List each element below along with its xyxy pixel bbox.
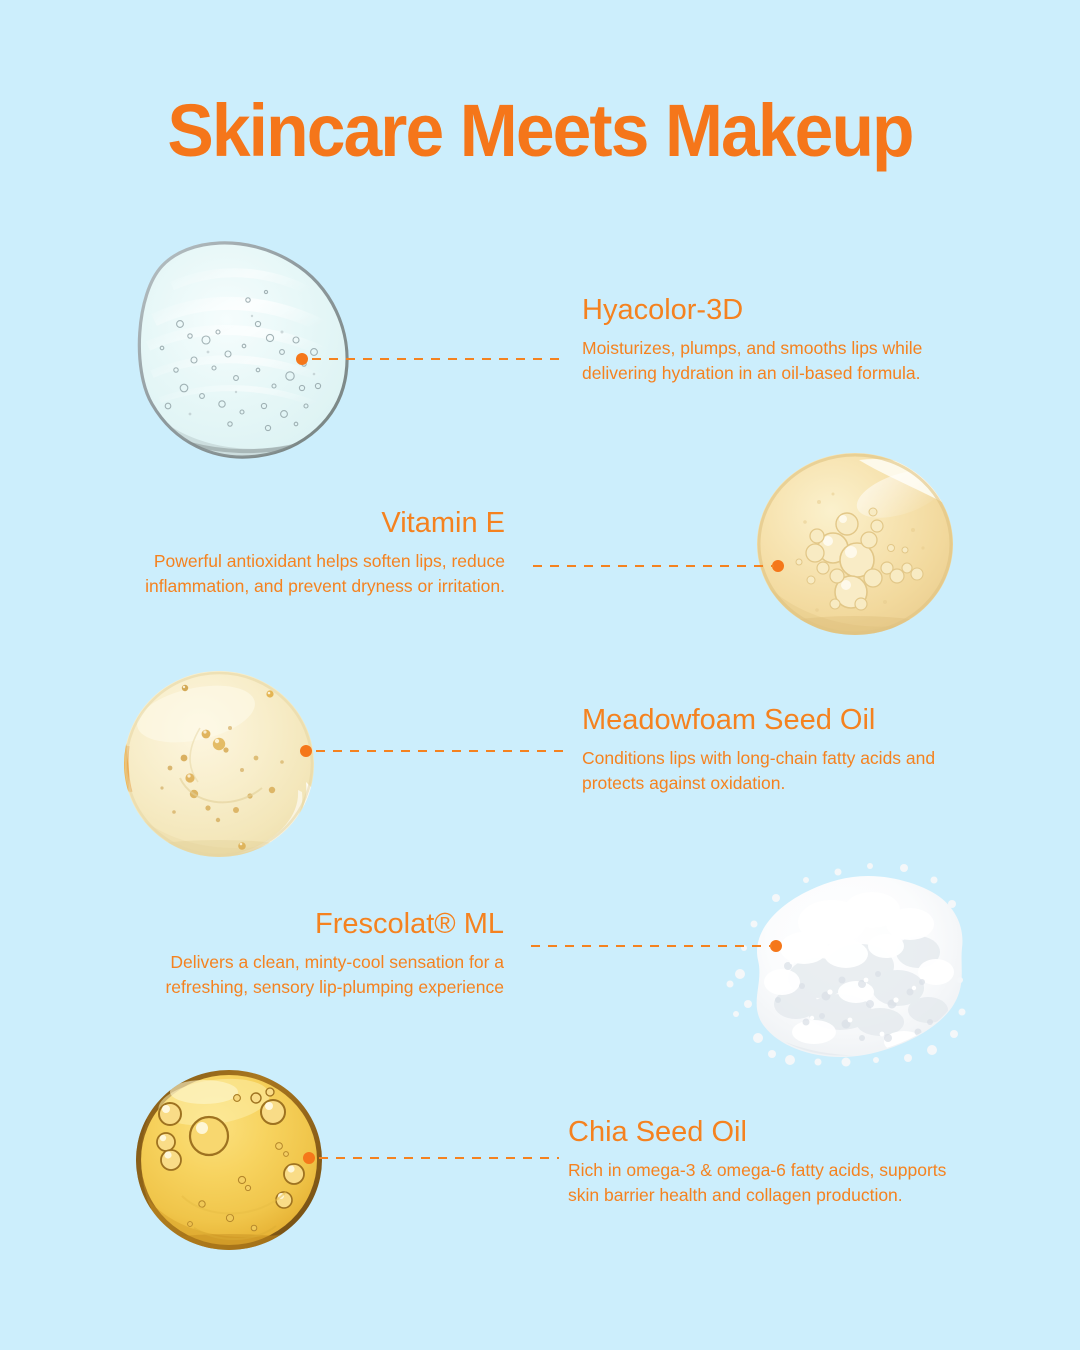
connector-line-vitamin-e — [533, 565, 774, 567]
ingredient-block-vitamin-e: Vitamin E Powerful antioxidant helps sof… — [130, 506, 505, 599]
ingredient-description: Delivers a clean, minty-cool sensation f… — [108, 950, 504, 1000]
ingredient-description: Moisturizes, plumps, and smooths lips wh… — [582, 336, 982, 386]
ingredient-description: Rich in omega-3 & omega-6 fatty acids, s… — [568, 1158, 958, 1208]
ingredient-description: Powerful antioxidant helps soften lips, … — [130, 549, 505, 599]
clear-gel-blob-swatch — [118, 228, 368, 463]
ingredient-block-chia-seed-oil: Chia Seed Oil Rich in omega-3 & omega-6 … — [568, 1115, 958, 1208]
white-powder-pile-swatch — [722, 862, 967, 1067]
connector-line-frescolat-ml — [531, 945, 772, 947]
ingredient-block-hyacolor-3d: Hyacolor-3D Moisturizes, plumps, and smo… — [582, 293, 982, 386]
connector-line-hyacolor-3d — [312, 358, 567, 360]
infographic-canvas: Skincare Meets Makeup — [0, 0, 1080, 1350]
pale-yellow-oil-drop-swatch — [755, 452, 955, 637]
connector-dot-meadowfoam-seed-oil — [300, 745, 312, 757]
connector-dot-chia-seed-oil — [303, 1152, 315, 1164]
ingredient-name: Hyacolor-3D — [582, 293, 982, 327]
ingredient-description: Conditions lips with long-chain fatty ac… — [582, 746, 982, 796]
ingredient-name: Chia Seed Oil — [568, 1115, 958, 1149]
connector-dot-hyacolor-3d — [296, 353, 308, 365]
connector-line-meadowfoam-seed-oil — [316, 750, 571, 752]
ingredient-name: Frescolat® ML — [108, 907, 504, 941]
ingredient-name: Meadowfoam Seed Oil — [582, 703, 982, 737]
amber-oil-disc-swatch — [134, 1068, 324, 1253]
connector-line-chia-seed-oil — [319, 1157, 559, 1159]
ingredient-name: Vitamin E — [130, 506, 505, 540]
ingredient-block-frescolat-ml: Frescolat® ML Delivers a clean, minty-co… — [108, 907, 504, 1000]
ingredient-block-meadowfoam-seed-oil: Meadowfoam Seed Oil Conditions lips with… — [582, 703, 982, 796]
cream-oil-disc-swatch — [122, 670, 317, 860]
page-title: Skincare Meets Makeup — [32, 88, 1047, 173]
